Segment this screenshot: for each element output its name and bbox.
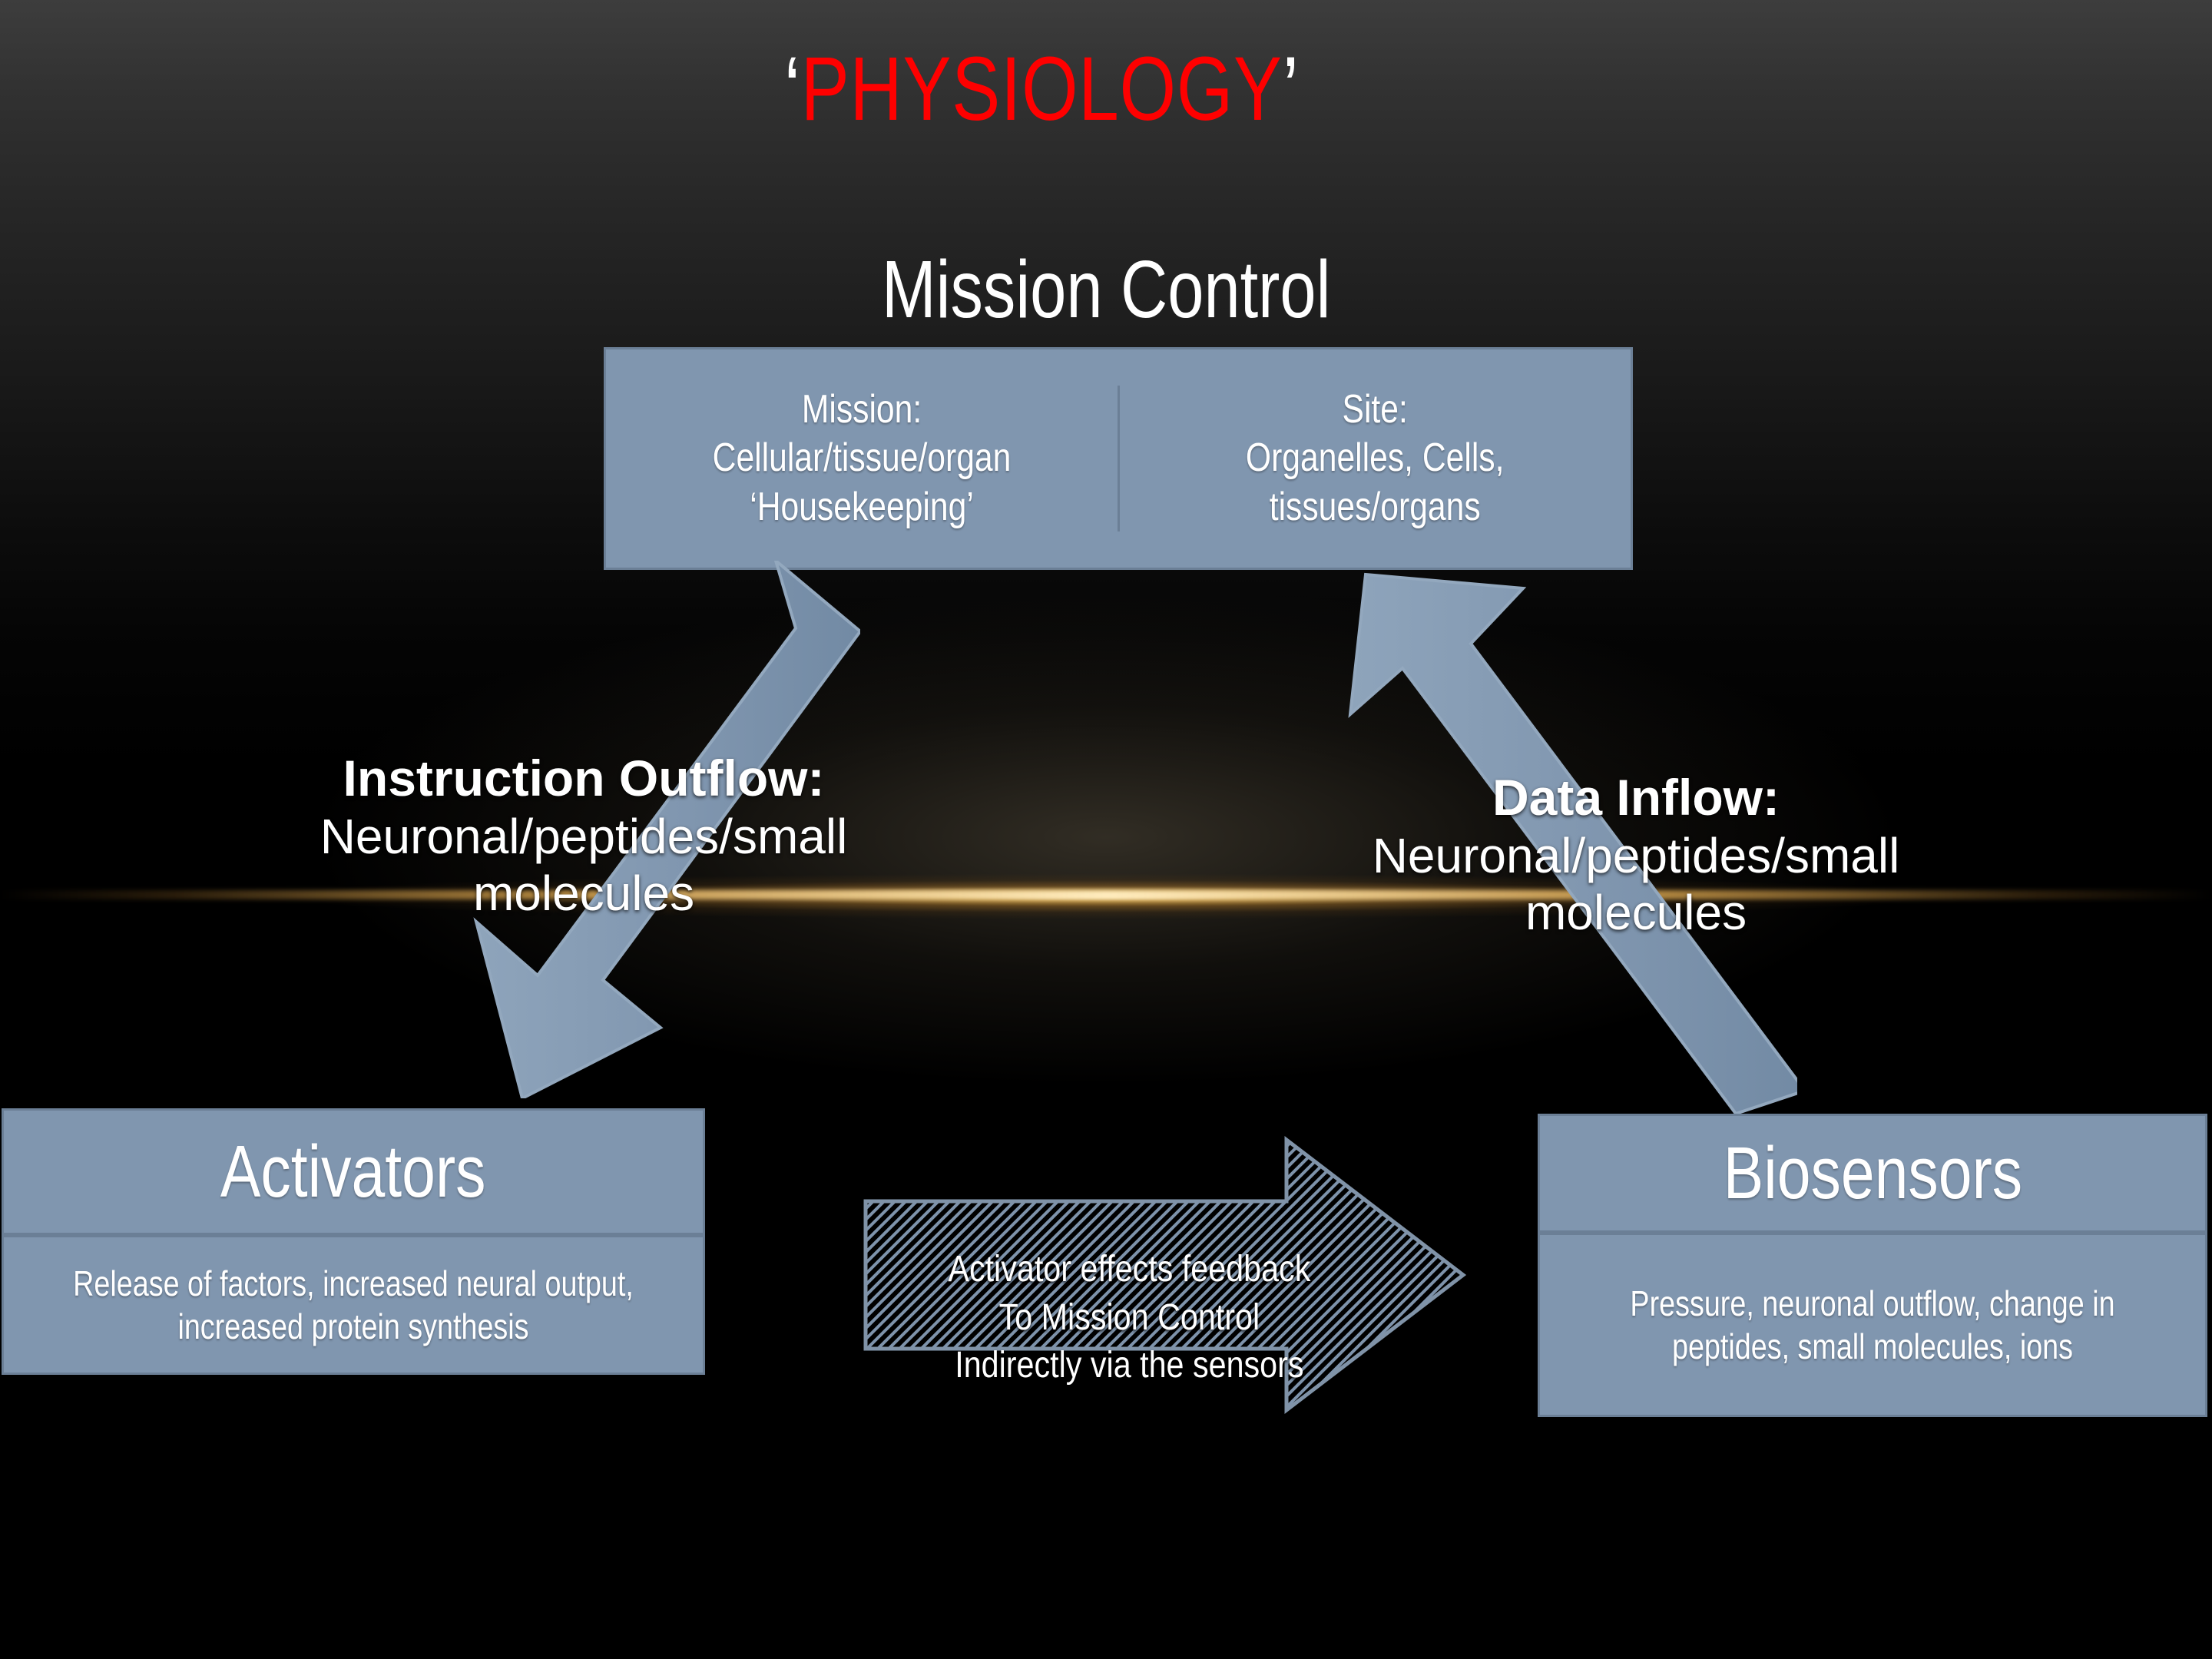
- instruction-outflow-heading: Instruction Outflow:: [253, 749, 914, 808]
- activators-body-text: Release of factors, increased neural out…: [67, 1262, 640, 1348]
- activators-header-box[interactable]: Activators: [2, 1108, 705, 1235]
- title-close-quote: ’: [1283, 38, 1300, 140]
- biosensors-body-box[interactable]: Pressure, neuronal outflow, change in pe…: [1538, 1233, 2207, 1417]
- mission-control-header: Mission Control: [0, 246, 2212, 333]
- title-open-quote: ‘: [784, 38, 801, 140]
- slide-title: ‘PHYSIOLOGY’: [0, 42, 2212, 137]
- title-text: PHYSIOLOGY: [801, 38, 1283, 140]
- mission-control-box[interactable]: Mission: Cellular/tissue/organ ‘Housekee…: [604, 347, 1633, 570]
- activators-body-box[interactable]: Release of factors, increased neural out…: [2, 1235, 705, 1375]
- mission-cell[interactable]: Mission: Cellular/tissue/organ ‘Housekee…: [606, 386, 1120, 531]
- mission-cell-text: Mission: Cellular/tissue/organ ‘Housekee…: [712, 386, 1011, 531]
- mission-control-header-label: Mission Control: [882, 246, 1330, 333]
- slide-canvas: ‘PHYSIOLOGY’ Mission Control Mission: Ce…: [0, 0, 2212, 1659]
- site-cell[interactable]: Site: Organelles, Cells, tissues/organs: [1120, 386, 1631, 531]
- site-cell-text: Site: Organelles, Cells, tissues/organs: [1246, 386, 1505, 531]
- biosensors-body-text: Pressure, neuronal outflow, change in pe…: [1600, 1282, 2145, 1368]
- feedback-arrow-label: Activator effects feedback To Mission Co…: [883, 1198, 1375, 1390]
- data-inflow-detail: Neuronal/peptides/small molecules: [1306, 827, 1966, 941]
- biosensors-heading: Biosensors: [1723, 1128, 2022, 1218]
- instruction-outflow-caption: Instruction Outflow: Neuronal/peptides/s…: [253, 749, 914, 922]
- feedback-arrow-text: Activator effects feedback To Mission Co…: [948, 1246, 1310, 1389]
- data-inflow-caption: Data Inflow: Neuronal/peptides/small mol…: [1306, 768, 1966, 941]
- biosensors-header-box[interactable]: Biosensors: [1538, 1114, 2207, 1233]
- activators-heading: Activators: [220, 1127, 486, 1217]
- instruction-outflow-detail: Neuronal/peptides/small molecules: [253, 808, 914, 922]
- data-inflow-heading: Data Inflow:: [1306, 768, 1966, 827]
